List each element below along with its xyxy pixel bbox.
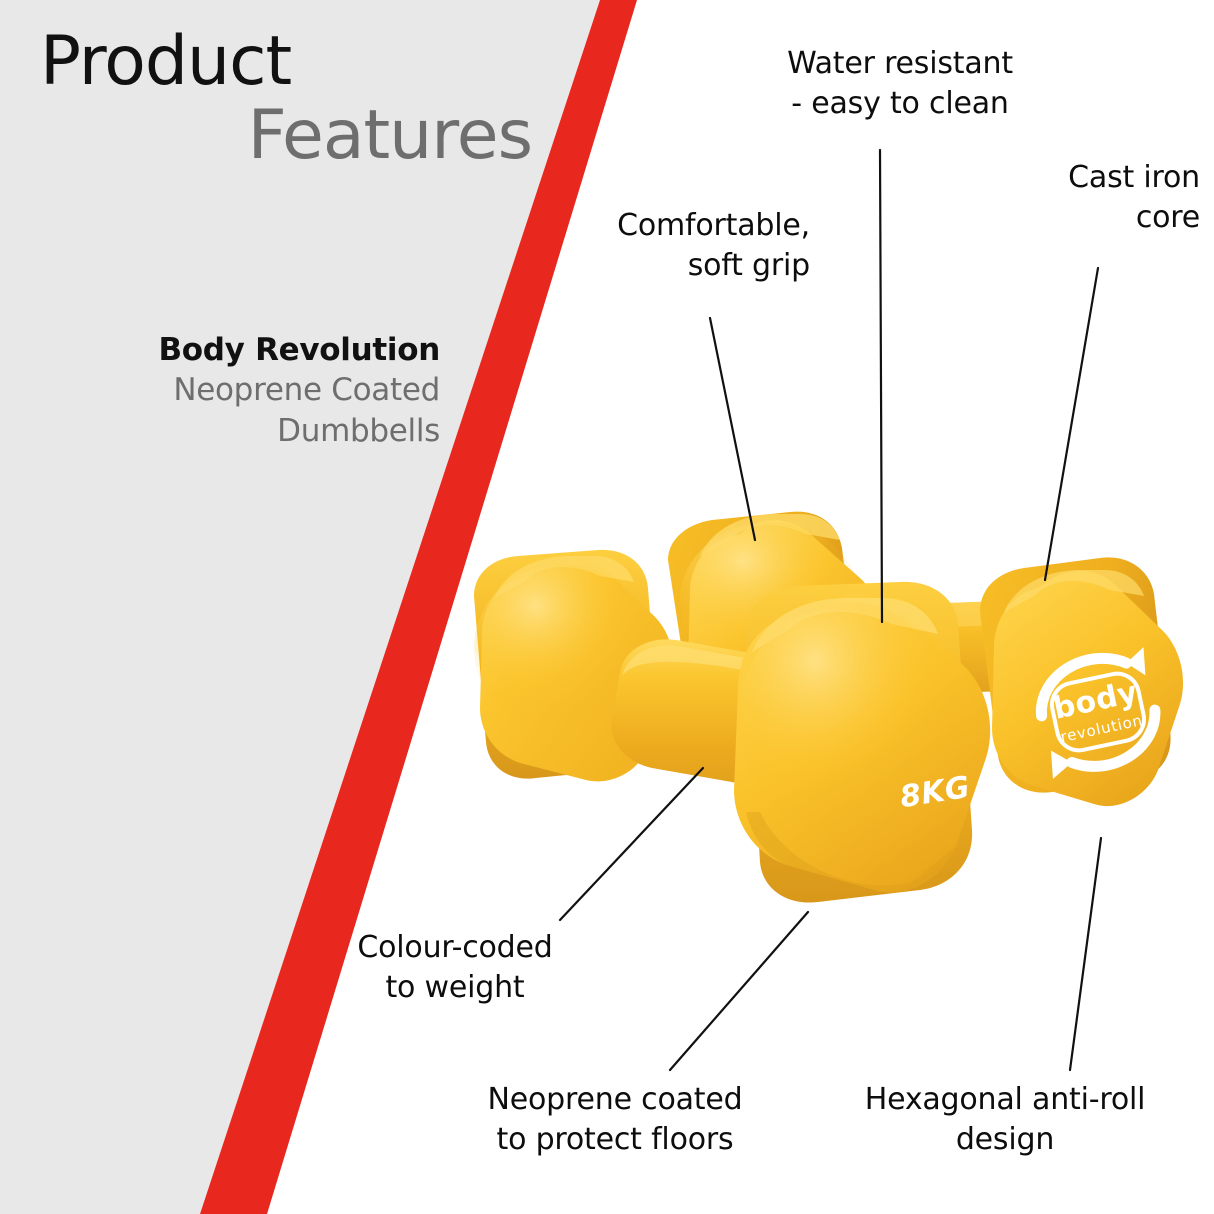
callout-comfortable-soft-grip: Comfortable, soft grip <box>520 206 810 285</box>
dumbbell-front <box>611 582 990 903</box>
title-line-features: Features <box>40 102 540 170</box>
callout-cast-iron-core: Cast iron core <box>900 158 1200 237</box>
callout-water-resistant: Water resistant - easy to clean <box>720 44 1080 123</box>
back-head-right-logo: body revolution <box>980 557 1183 806</box>
callout-neoprene-coated: Neoprene coated to protect floors <box>450 1080 780 1159</box>
product-desc-line1: Neoprene Coated <box>60 370 440 410</box>
callout-colour-coded-to-weight: Colour-coded to weight <box>320 928 590 1007</box>
product-brand: Body Revolution <box>60 330 440 370</box>
page-title: Product Features <box>40 28 540 170</box>
product-features-infographic: body revolution 8KG <box>0 0 1214 1214</box>
front-head-8kg <box>734 582 990 903</box>
product-desc-line2: Dumbbells <box>60 411 440 451</box>
product-name-block: Body Revolution Neoprene Coated Dumbbell… <box>60 330 440 451</box>
title-line-product: Product <box>40 28 540 96</box>
callout-hexagonal-anti-roll-design: Hexagonal anti-roll design <box>830 1080 1180 1159</box>
